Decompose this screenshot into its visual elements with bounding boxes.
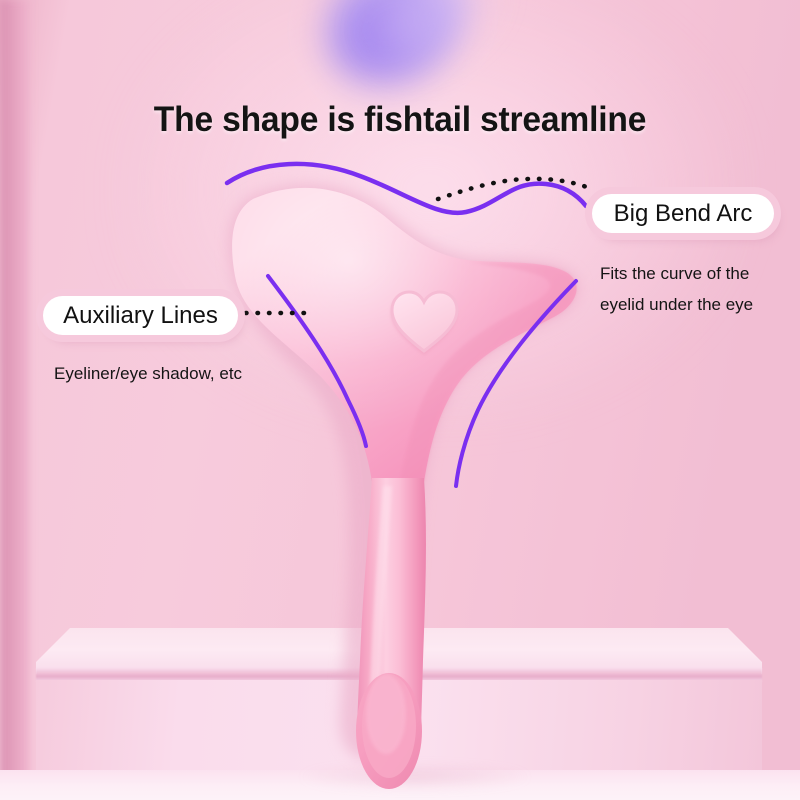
callout-description-big-bend-arc: Fits the curve of the eyelid under the e…: [600, 258, 795, 321]
right-bend-curve: [456, 281, 576, 486]
page-title: The shape is fishtail streamline: [16, 100, 784, 140]
callout-pill-big-bend-arc[interactable]: Big Bend Arc: [592, 194, 774, 233]
callout-description-auxiliary-lines: Eyeliner/eye shadow, etc: [54, 358, 314, 389]
callout-pill-label: Auxiliary Lines: [63, 302, 218, 330]
top-arc-curve: [227, 164, 586, 213]
infographic-canvas: The shape is fishtail streamline Big Ben…: [0, 0, 800, 800]
callout-pill-label: Big Bend Arc: [614, 200, 753, 228]
callout-pill-auxiliary-lines[interactable]: Auxiliary Lines: [43, 296, 238, 335]
